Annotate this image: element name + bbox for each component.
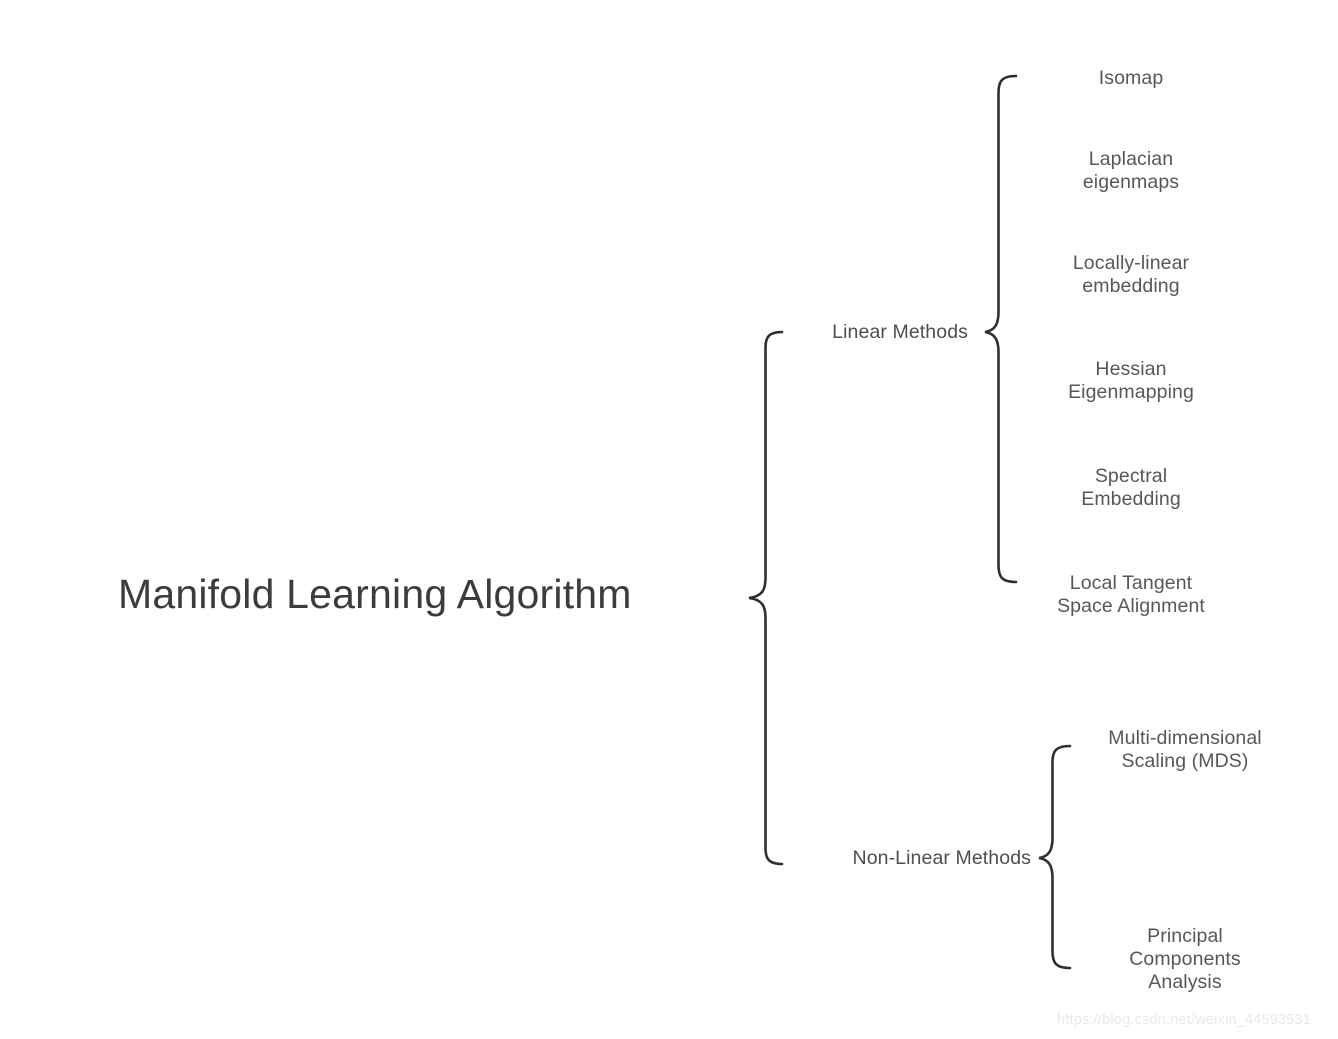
leaf-label-spectral-embedding: Spectral Embedding (1026, 465, 1236, 511)
root-node-label: Manifold Learning Algorithm (118, 570, 738, 618)
leaf-label-locally-linear-embedding: Locally-linear embedding (1026, 252, 1236, 298)
linear-methods-brace (985, 76, 1016, 582)
leaf-label-hessian-eigenmapping: Hessian Eigenmapping (1026, 358, 1236, 404)
branch-label-linear-methods: Linear Methods (700, 321, 968, 344)
leaf-label-local-tangent-space-alignment: Local Tangent Space Alignment (1026, 572, 1236, 618)
branch-label-non-linear-methods: Non-Linear Methods (700, 847, 1031, 870)
leaf-label-isomap: Isomap (1026, 67, 1236, 90)
leaf-label-principal-components-analysis: Principal Components Analysis (1070, 925, 1300, 994)
root-brace (749, 332, 782, 864)
diagram-canvas: Manifold Learning Algorithm Linear Metho… (0, 0, 1338, 1039)
leaf-label-laplacian-eigenmaps: Laplacian eigenmaps (1026, 148, 1236, 194)
leaf-label-multi-dimensional-scaling: Multi-dimensional Scaling (MDS) (1070, 727, 1300, 773)
watermark-text: https://blog.csdn.net/weixin_44593531 (1057, 1012, 1311, 1028)
non-linear-methods-brace (1039, 746, 1070, 968)
